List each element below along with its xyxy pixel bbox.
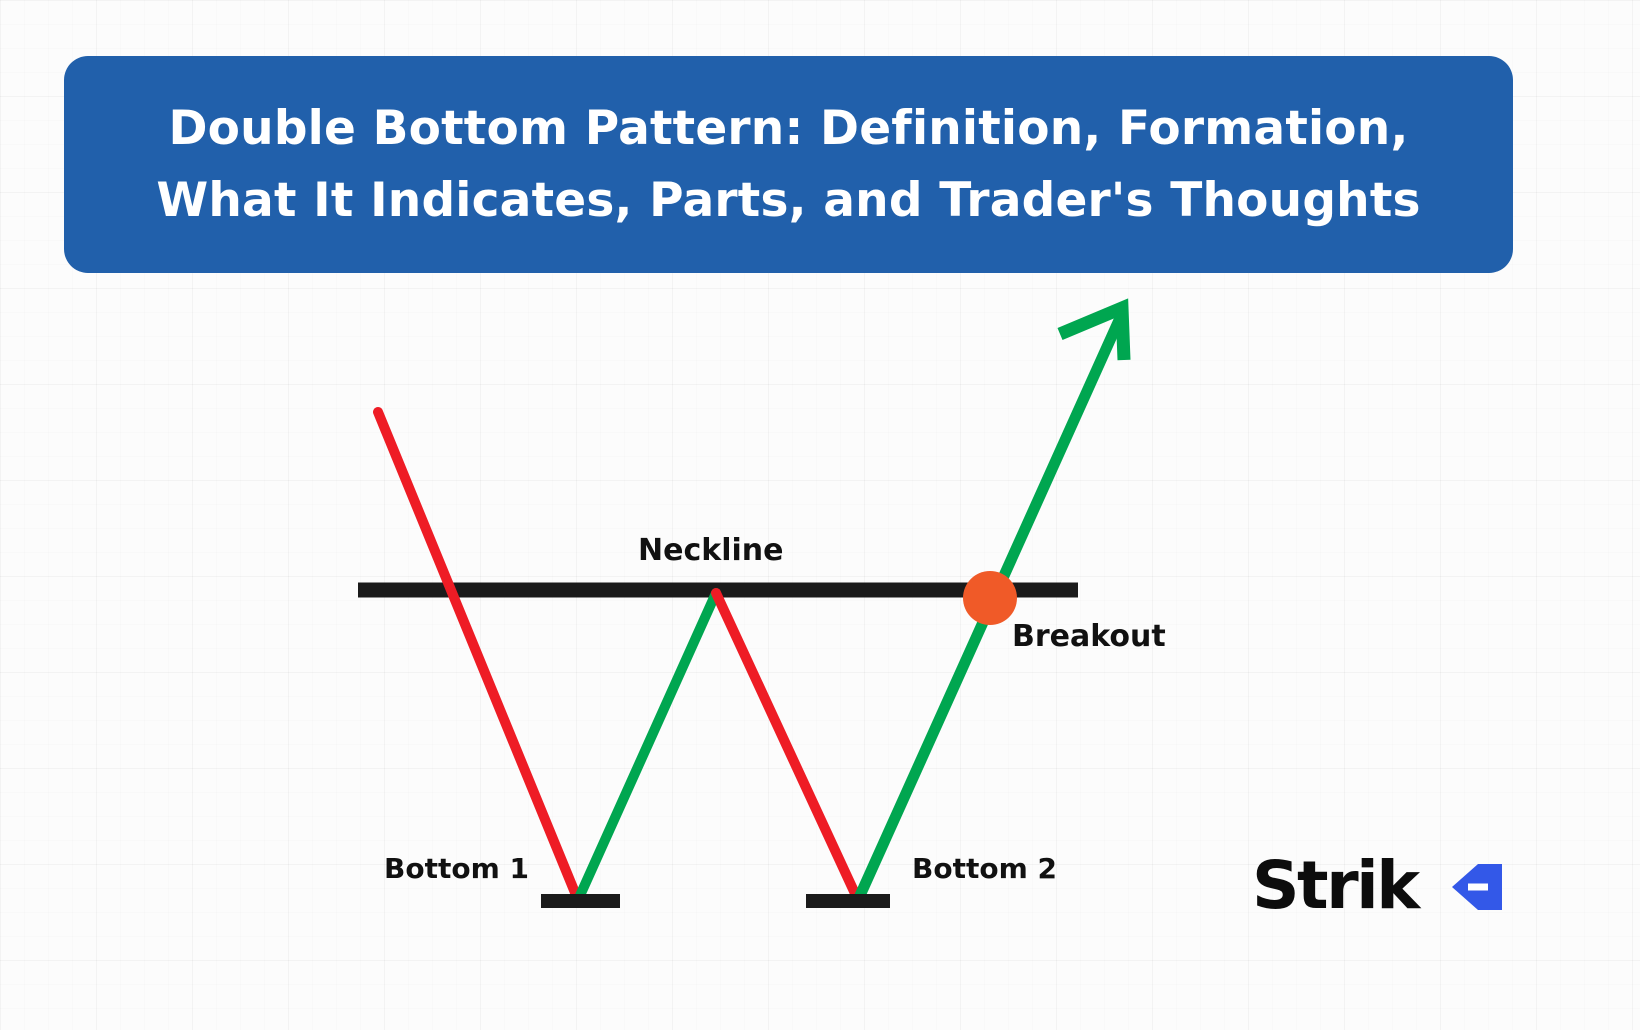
bottom-1-label: Bottom 1 (384, 852, 529, 885)
title-banner: Double Bottom Pattern: Definition, Forma… (64, 56, 1513, 273)
bottom-2-label: Bottom 2 (912, 852, 1057, 885)
breakout-rally-line (858, 318, 1120, 900)
page-title-line-1: Double Bottom Pattern: Definition, Forma… (168, 93, 1408, 165)
strike-arrow-icon (1448, 860, 1504, 914)
first-decline-line (378, 412, 578, 900)
page-title-line-2: What It Indicates, Parts, and Trader's T… (156, 165, 1420, 237)
uptrend-arrow-icon (1060, 308, 1124, 360)
page-root: Double Bottom Pattern: Definition, Forma… (0, 0, 1640, 1030)
breakout-point-marker (963, 571, 1017, 625)
first-rally-line (578, 593, 716, 900)
neckline-label: Neckline (638, 533, 783, 568)
breakout-label: Breakout (1012, 619, 1166, 654)
second-decline-line (716, 593, 858, 900)
strike-logo: Strik (1252, 846, 1504, 926)
strike-wordmark: Strik (1252, 846, 1418, 926)
